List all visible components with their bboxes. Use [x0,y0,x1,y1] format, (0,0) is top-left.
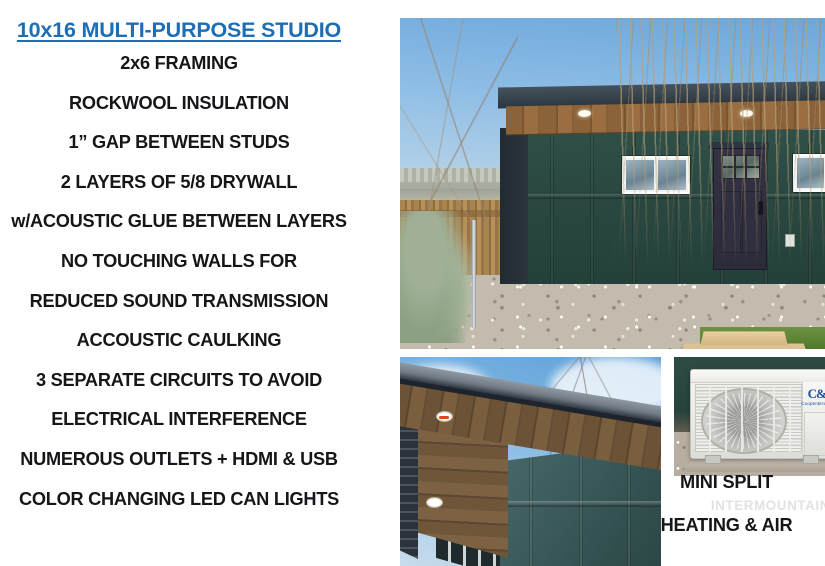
eave-detail-photo [400,357,661,566]
spec-line: ROCKWOOL INSULATION [0,84,358,124]
watermark: INTERMOUNTAIN [630,498,825,513]
door-glass [722,155,760,179]
entry-step-top [700,331,788,345]
spec-line: 3 SEPARATE CIRCUITS TO AVOID [0,361,358,401]
wood-soffit [506,100,825,136]
spec-line: w/ACOUSTIC GLUE BETWEEN LAYERS [0,202,358,242]
can-light-icon [436,411,453,422]
spec-line: ACCOUSTIC CAULKING [0,321,358,361]
spec-line: 2 LAYERS OF 5/8 DRYWALL [0,163,358,203]
spec-line: NO TOUCHING WALLS FOR [0,242,358,282]
brand-logo: C&H [801,386,825,402]
spec-list: 2x6 FRAMING ROCKWOOL INSULATION 1” GAP B… [0,44,358,519]
mini-split-photo: C&H Cooper&Hunter [674,357,825,476]
brand-subtext: Cooper&Hunter [801,401,825,406]
board-and-batten-wall [528,130,825,284]
spec-line: ELECTRICAL INTERFERENCE [0,400,358,440]
spec-line: COLOR CHANGING LED CAN LIGHTS [0,480,358,520]
studio-structure [500,84,825,284]
window-left [622,156,690,194]
door-handle [758,201,763,215]
spec-column: 10x16 MULTI-PURPOSE STUDIO 2x6 FRAMING R… [0,0,358,550]
spec-line: 2x6 FRAMING [0,44,358,84]
spec-line: REDUCED SOUND TRANSMISSION [0,282,358,322]
utility-pipe [472,220,476,328]
can-light-icon [426,497,443,508]
caption-line-1: MINI SPLIT [628,472,825,493]
spec-line: NUMEROUS OUTLETS + HDMI & USB [0,440,358,480]
exterior-outlet [785,234,795,247]
shrub [400,211,472,343]
entry-door [713,148,767,270]
slide-canvas: 10x16 MULTI-PURPOSE STUDIO 2x6 FRAMING R… [0,0,825,550]
condenser-unit: C&H Cooper&Hunter [690,369,825,459]
page-title: 10x16 MULTI-PURPOSE STUDIO [0,18,358,43]
studio-exterior-photo [400,18,825,349]
end-wall [500,128,530,284]
caption-line-2: HEATING & AIR [628,515,825,536]
spec-line: 1” GAP BETWEEN STUDS [0,123,358,163]
window-right [793,154,825,192]
